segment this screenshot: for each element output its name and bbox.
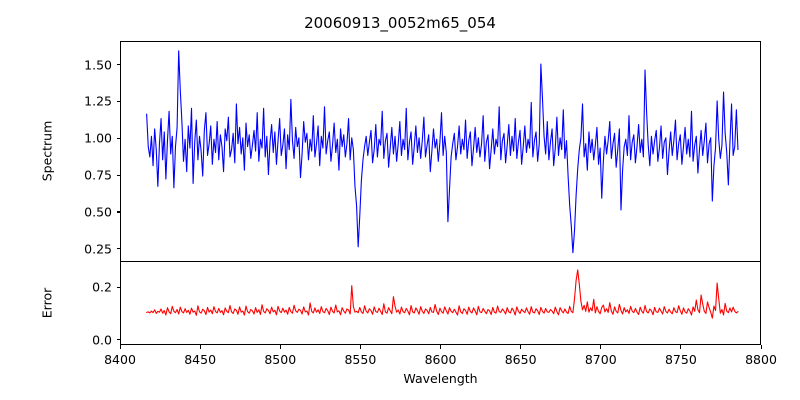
x-tick-mark [520,345,521,349]
spectrum-panel [120,41,761,262]
spectrum-line-series [121,42,761,262]
x-tick-label: 8750 [665,352,697,367]
x-tick-label: 8650 [505,352,537,367]
y-tick-mark [117,175,121,176]
y-tick-label: 0.2 [50,280,112,295]
y-tick-mark [117,287,121,288]
x-tick-label: 8450 [184,352,216,367]
y-tick-mark [117,339,121,340]
x-tick-mark [680,345,681,349]
y-tick-label: 0.75 [50,168,112,183]
y-tick-mark [117,101,121,102]
x-tick-mark [761,345,762,349]
x-axis-label: Wavelength [120,371,761,386]
x-tick-label: 8500 [264,352,296,367]
y-tick-mark [117,211,121,212]
y-tick-label: 0.50 [50,204,112,219]
x-tick-label: 8400 [104,352,136,367]
x-tick-label: 8600 [425,352,457,367]
chart-title: 20060913_0052m65_054 [0,14,800,32]
error-line-series [121,262,761,345]
x-tick-label: 8550 [344,352,376,367]
x-tick-mark [440,345,441,349]
error-y-axis-label: Error [40,253,55,353]
x-tick-mark [360,345,361,349]
y-tick-label: 0.0 [50,332,112,347]
error-panel [120,261,761,345]
y-tick-mark [117,64,121,65]
x-tick-label: 8800 [745,352,777,367]
spectrum-y-axis-label: Spectrum [40,91,55,211]
x-tick-label: 8700 [585,352,617,367]
y-tick-label: 1.50 [50,57,112,72]
figure-canvas: 20060913_0052m65_054 0.250.500.751.001.2… [0,0,800,400]
y-tick-label: 0.25 [50,241,112,256]
x-tick-mark [120,345,121,349]
x-tick-mark [280,345,281,349]
y-tick-mark [117,248,121,249]
y-tick-label: 1.00 [50,131,112,146]
x-tick-mark [200,345,201,349]
x-tick-mark [600,345,601,349]
y-tick-mark [117,138,121,139]
y-tick-label: 1.25 [50,94,112,109]
